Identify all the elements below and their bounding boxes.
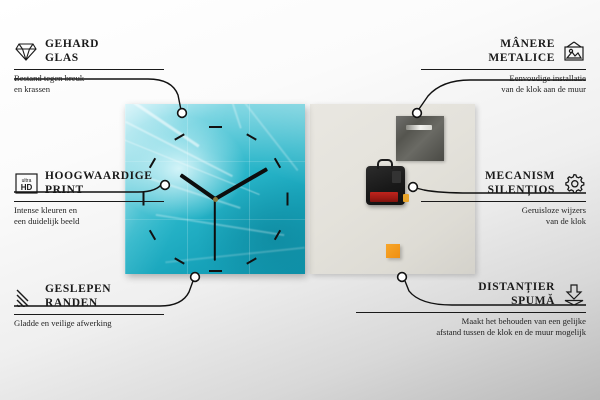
foam-spacer-icon bbox=[562, 283, 586, 307]
feature-title-line2: SPUMĂ bbox=[478, 295, 555, 309]
feature-title-line1: MECANISM bbox=[485, 170, 555, 184]
feature-title-line1: GEHARD bbox=[45, 38, 99, 52]
feature-desc-line2: afstand tussen de klok en de muur mogeli… bbox=[356, 327, 586, 338]
gear-icon bbox=[562, 172, 586, 196]
feature-title-line1: DISTANȚIER bbox=[478, 281, 555, 295]
feature-hoogwaardige-print[interactable]: ultra HD HOOGWAARDIGE PRINT Intense kleu… bbox=[14, 170, 164, 227]
clock-mechanism bbox=[366, 166, 405, 205]
infographic-stage: GEHARD GLAS Bestand tegen breuk en krass… bbox=[0, 0, 600, 400]
clock-pivot bbox=[213, 197, 218, 202]
clock-tick bbox=[286, 193, 288, 206]
feature-distantier-spuma[interactable]: DISTANȚIER SPUMĂ Maakt het behouden van … bbox=[356, 281, 586, 338]
feature-desc-line2: een duidelijk beeld bbox=[14, 216, 164, 227]
feature-gehard-glas[interactable]: GEHARD GLAS Bestand tegen breuk en krass… bbox=[14, 38, 164, 95]
feature-desc-line1: Geruisloze wijzers bbox=[421, 205, 586, 216]
feature-desc-line2: van de klok bbox=[421, 216, 586, 227]
feature-desc-line1: Intense kleuren en bbox=[14, 205, 164, 216]
orange-foam-spacer bbox=[386, 244, 400, 258]
feature-desc-line2: van de klok aan de muur bbox=[421, 84, 586, 95]
battery-terminal bbox=[403, 194, 409, 202]
diamond-icon bbox=[14, 40, 38, 64]
feature-title-line1: HOOGWAARDIGE bbox=[45, 170, 153, 184]
hanging-loop bbox=[377, 159, 393, 169]
feature-title-line1: MÂNERE bbox=[488, 38, 555, 52]
feature-title-line2: GLAS bbox=[45, 52, 99, 66]
hanger-slot bbox=[406, 125, 432, 130]
feature-title-line2: PRINT bbox=[45, 184, 153, 198]
svg-text:HD: HD bbox=[20, 183, 32, 192]
feature-mecanism-silentios[interactable]: MECANISM SILENȚIOS Geruisloze wijzers va… bbox=[421, 170, 586, 227]
ultra-hd-icon: ultra HD bbox=[14, 172, 38, 196]
clock-tick bbox=[209, 126, 222, 128]
divider bbox=[14, 201, 164, 202]
metal-hanger-plate bbox=[396, 116, 444, 161]
feature-title-line1: GESLEPEN bbox=[45, 283, 111, 297]
beveled-edges-icon bbox=[14, 285, 38, 309]
feature-title-line2: RANDEN bbox=[45, 297, 111, 311]
divider bbox=[14, 69, 164, 70]
divider bbox=[421, 201, 586, 202]
feature-title-line2: SILENȚIOS bbox=[485, 184, 555, 198]
feature-title-line2: METALICE bbox=[488, 52, 555, 66]
feature-desc-line1: Maakt het behouden van een gelijke bbox=[356, 316, 586, 327]
feature-desc-line2: en krassen bbox=[14, 84, 164, 95]
battery bbox=[370, 192, 398, 202]
mechanism-notch bbox=[392, 171, 401, 183]
second-hand bbox=[214, 199, 216, 261]
feature-geslepen-randen[interactable]: GESLEPEN RANDEN Gladde en veilige afwerk… bbox=[14, 283, 164, 329]
clock-tick bbox=[209, 270, 222, 272]
feature-desc-line1: Eenvoudige installatie bbox=[421, 73, 586, 84]
divider bbox=[14, 314, 164, 315]
divider bbox=[421, 69, 586, 70]
feature-manere-metalice[interactable]: MÂNERE METALICE Eenvoudige installatie v… bbox=[421, 38, 586, 95]
feature-desc-line1: Bestand tegen breuk bbox=[14, 73, 164, 84]
wall-hanger-icon bbox=[562, 40, 586, 64]
divider bbox=[356, 312, 586, 313]
feature-desc-line1: Gladde en veilige afwerking bbox=[14, 318, 164, 329]
